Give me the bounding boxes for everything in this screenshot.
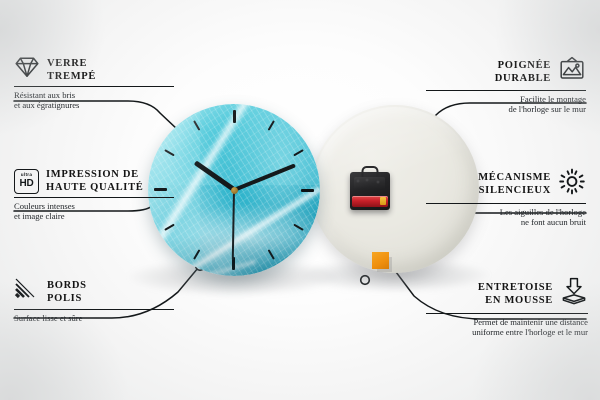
feature-desc-line1: Résistant aux bris — [14, 90, 174, 100]
feature-header: ENTRETOISE EN MOUSSE — [426, 277, 588, 310]
feature-title-line1: IMPRESSION DE — [46, 168, 144, 181]
feature-desc-line2: de l'horloge sur le mur — [426, 104, 586, 114]
feature-title-line1: VERRE — [47, 57, 96, 70]
feature-description: Surface lisse et sûre — [14, 313, 174, 323]
hanging-frame-icon — [558, 56, 586, 87]
feature-desc-line1: Les aiguilles de l'horloge — [426, 207, 586, 217]
feature-title-line1: ENTRETOISE — [478, 281, 553, 294]
feature-entretoise-en-mousse: ENTRETOISE EN MOUSSE Permet de maintenir… — [426, 277, 588, 338]
press-down-pad-icon — [560, 277, 588, 310]
feature-title-line2: SILENCIEUX — [478, 184, 551, 197]
feature-title: ENTRETOISE EN MOUSSE — [478, 281, 553, 307]
feature-impression-haute-qualite: ultra HD IMPRESSION DE HAUTE QUALITÉ Cou… — [14, 168, 174, 222]
feature-desc-line2: et image claire — [14, 211, 174, 221]
clock-movement — [350, 172, 390, 210]
feature-description: Les aiguilles de l'horloge ne font aucun… — [426, 207, 586, 228]
feature-title-line2: POLIS — [47, 292, 87, 305]
feature-title: VERRE TREMPÉ — [47, 57, 96, 83]
feature-rule — [426, 90, 586, 91]
feature-title-line1: MÉCANISME — [478, 171, 551, 184]
feature-desc-line1: Facilite le montage — [426, 94, 586, 104]
feature-desc-line2: et aux égratignures — [14, 100, 174, 110]
feature-verre-trempe: VERRE TREMPÉ Résistant aux bris et aux é… — [14, 56, 174, 111]
foam-spacer — [372, 252, 389, 269]
feature-description: Résistant aux bris et aux égratignures — [14, 90, 174, 111]
feature-rule — [426, 313, 588, 314]
feature-desc-line1: Surface lisse et sûre — [14, 313, 174, 323]
battery-aa — [352, 196, 388, 207]
ultra-hd-icon: ultra HD — [14, 169, 39, 194]
feature-title-line2: HAUTE QUALITÉ — [46, 181, 144, 194]
feature-title: IMPRESSION DE HAUTE QUALITÉ — [46, 168, 144, 194]
feature-desc-line1: Permet de maintenir une distance — [426, 317, 588, 327]
feature-header: VERRE TREMPÉ — [14, 56, 174, 83]
feature-title: MÉCANISME SILENCIEUX — [478, 171, 551, 197]
feature-title-line1: BORDS — [47, 279, 87, 292]
feature-desc-line2: ne font aucun bruit — [426, 217, 586, 227]
feature-desc-line2: uniforme entre l'horloge et le mur — [426, 327, 588, 337]
feature-description: Permet de maintenir une distance uniform… — [426, 317, 588, 338]
diamond-icon — [14, 56, 40, 83]
feature-rule — [14, 86, 174, 87]
diagonal-lines-icon — [14, 277, 40, 306]
feature-mecanisme-silencieux: MÉCANISME SILENCIEUX Les aiguilles de l'… — [426, 168, 586, 228]
feature-description: Facilite le montage de l'horloge sur le … — [426, 94, 586, 115]
feature-rule — [426, 203, 586, 204]
infographic-stage: VERRE TREMPÉ Résistant aux bris et aux é… — [0, 0, 600, 400]
feature-description: Couleurs intenses et image claire — [14, 201, 174, 222]
gear-icon — [558, 168, 586, 200]
feature-bords-polis: BORDS POLIS Surface lisse et sûre — [14, 277, 174, 323]
feature-title-line1: POIGNÉE — [495, 59, 551, 72]
feature-title-line2: DURABLE — [495, 72, 551, 85]
feature-header: ultra HD IMPRESSION DE HAUTE QUALITÉ — [14, 168, 174, 194]
feature-title-line2: TREMPÉ — [47, 70, 96, 83]
feature-desc-line1: Couleurs intenses — [14, 201, 174, 211]
feature-header: POIGNÉE DURABLE — [426, 56, 586, 87]
movement-detail — [354, 177, 385, 190]
feature-header: BORDS POLIS — [14, 277, 174, 306]
movement-hanger — [362, 166, 379, 177]
feature-rule — [14, 197, 174, 198]
feature-poignee-durable: POIGNÉE DURABLE Facilite le montage de l… — [426, 56, 586, 115]
feature-title-line2: EN MOUSSE — [478, 294, 553, 307]
feature-title: POIGNÉE DURABLE — [495, 59, 551, 85]
feature-header: MÉCANISME SILENCIEUX — [426, 168, 586, 200]
feature-rule — [14, 309, 174, 310]
ultra-hd-icon-main-text: HD — [19, 179, 33, 189]
feature-title: BORDS POLIS — [47, 279, 87, 305]
